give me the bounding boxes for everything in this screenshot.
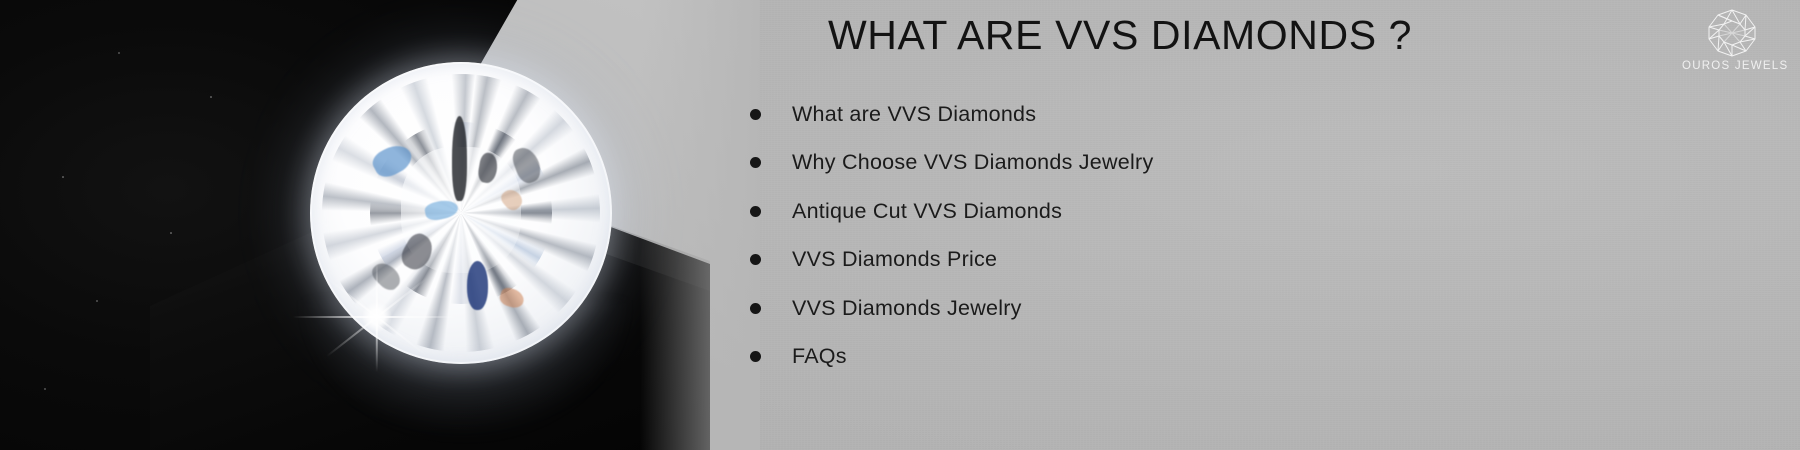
dust-speck bbox=[170, 232, 172, 234]
faceted-diamond-outline-icon bbox=[1705, 8, 1759, 58]
vvs-diamonds-banner: WHAT ARE VVS DIAMONDS ? What are VVS Dia… bbox=[0, 0, 1800, 450]
toc-item-label: What are VVS Diamonds bbox=[792, 102, 1036, 127]
bullet-icon bbox=[750, 206, 761, 217]
page-title: WHAT ARE VVS DIAMONDS ? bbox=[620, 12, 1620, 59]
bullet-icon bbox=[750, 157, 761, 168]
sparkle-icon bbox=[292, 232, 462, 402]
content-area: WHAT ARE VVS DIAMONDS ? What are VVS Dia… bbox=[620, 0, 1800, 450]
brand-name: OUROS JEWELS bbox=[1682, 60, 1782, 72]
toc-item-vvs-diamonds-jewelry[interactable]: VVS Diamonds Jewelry bbox=[750, 284, 1153, 333]
dust-speck bbox=[44, 388, 46, 390]
dust-speck bbox=[210, 96, 212, 98]
dust-speck bbox=[118, 52, 120, 54]
table-of-contents: What are VVS Diamonds Why Choose VVS Dia… bbox=[750, 90, 1153, 381]
brand-logo[interactable]: OUROS JEWELS bbox=[1682, 8, 1782, 72]
toc-item-label: Antique Cut VVS Diamonds bbox=[792, 199, 1062, 224]
toc-item-label: Why Choose VVS Diamonds Jewelry bbox=[792, 150, 1153, 175]
toc-item-vvs-diamonds-price[interactable]: VVS Diamonds Price bbox=[750, 236, 1153, 285]
bullet-icon bbox=[750, 109, 761, 120]
sparkle-core bbox=[362, 302, 392, 332]
toc-item-label: FAQs bbox=[792, 344, 847, 369]
bullet-icon bbox=[750, 303, 761, 314]
bullet-icon bbox=[750, 351, 761, 362]
toc-item-label: VVS Diamonds Jewelry bbox=[792, 296, 1022, 321]
toc-item-what-are-vvs-diamonds[interactable]: What are VVS Diamonds bbox=[750, 90, 1153, 139]
toc-item-antique-cut-vvs-diamonds[interactable]: Antique Cut VVS Diamonds bbox=[750, 187, 1153, 236]
toc-item-faqs[interactable]: FAQs bbox=[750, 333, 1153, 382]
bullet-icon bbox=[750, 254, 761, 265]
toc-item-why-choose-vvs-diamonds-jewelry[interactable]: Why Choose VVS Diamonds Jewelry bbox=[750, 139, 1153, 188]
toc-item-label: VVS Diamonds Price bbox=[792, 247, 997, 272]
dust-speck bbox=[96, 300, 98, 302]
dust-speck bbox=[62, 176, 64, 178]
